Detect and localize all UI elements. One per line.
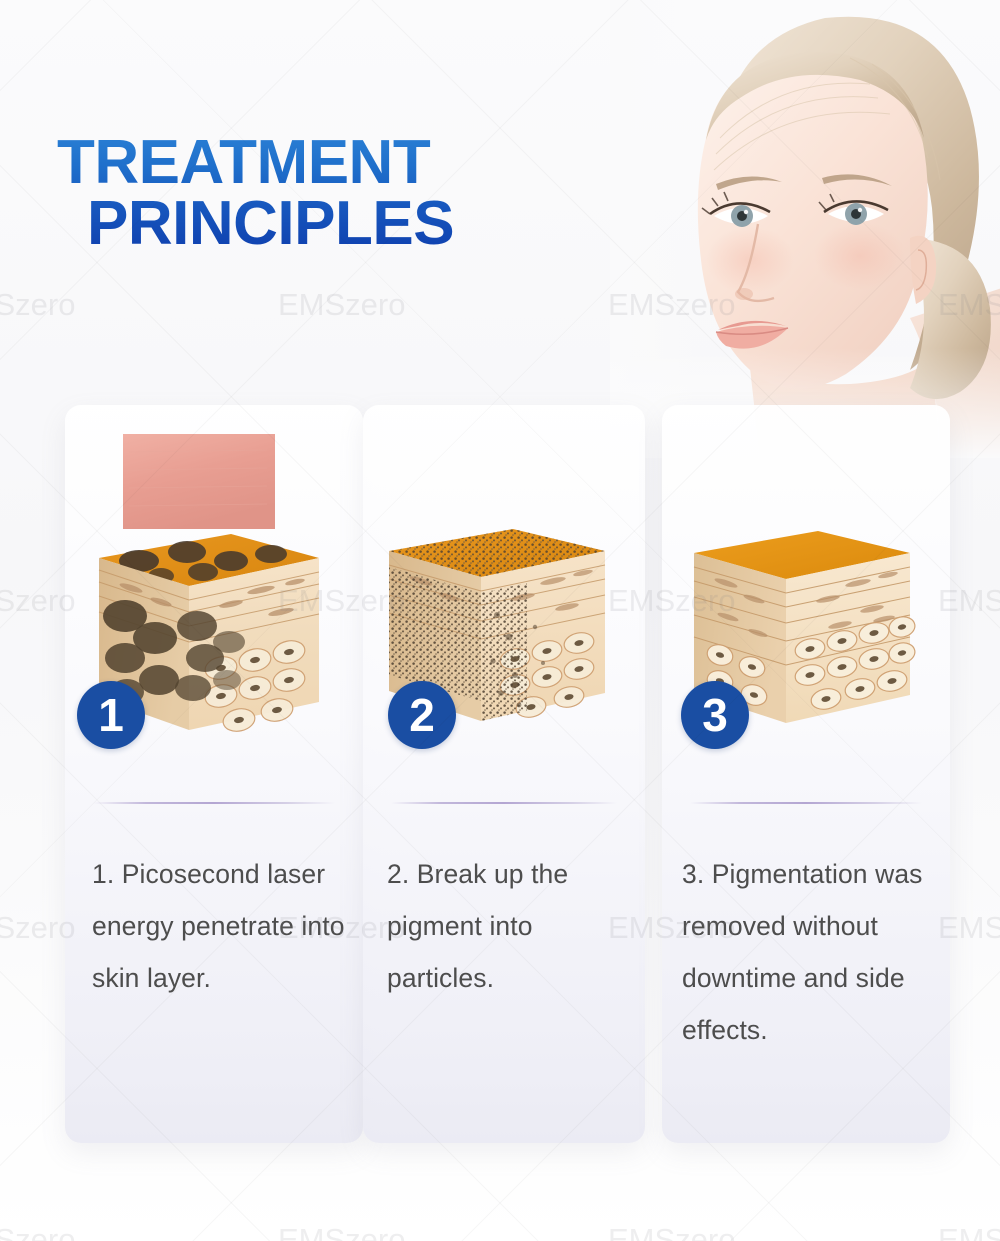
card-divider <box>391 802 617 804</box>
step-badge-1: 1 <box>77 681 145 749</box>
page-title: TREATMENT PRINCIPLES <box>57 133 454 255</box>
page-title-line-1: TREATMENT <box>57 133 454 194</box>
card-divider <box>690 802 922 804</box>
principle-card-3[interactable]: 3. Pigmentation was removed without down… <box>662 405 950 1143</box>
page-root: TREATMENT PRINCIPLES <box>0 0 1000 1241</box>
card-3-description: 3. Pigmentation was removed without down… <box>682 848 934 1056</box>
card-divider <box>93 802 335 804</box>
laser-panel <box>123 434 275 529</box>
principle-card-2[interactable]: 2. Break up the pigment into particles. <box>363 405 645 1143</box>
principle-card-1[interactable]: 1. Picosecond laser energy penetrate int… <box>65 405 363 1143</box>
step-badge-3: 3 <box>681 681 749 749</box>
card-1-description: 1. Picosecond laser energy penetrate int… <box>92 848 347 1004</box>
card-2-description: 2. Break up the pigment into particles. <box>387 848 629 1004</box>
page-title-line-2: PRINCIPLES <box>87 194 454 255</box>
step-badge-2: 2 <box>388 681 456 749</box>
